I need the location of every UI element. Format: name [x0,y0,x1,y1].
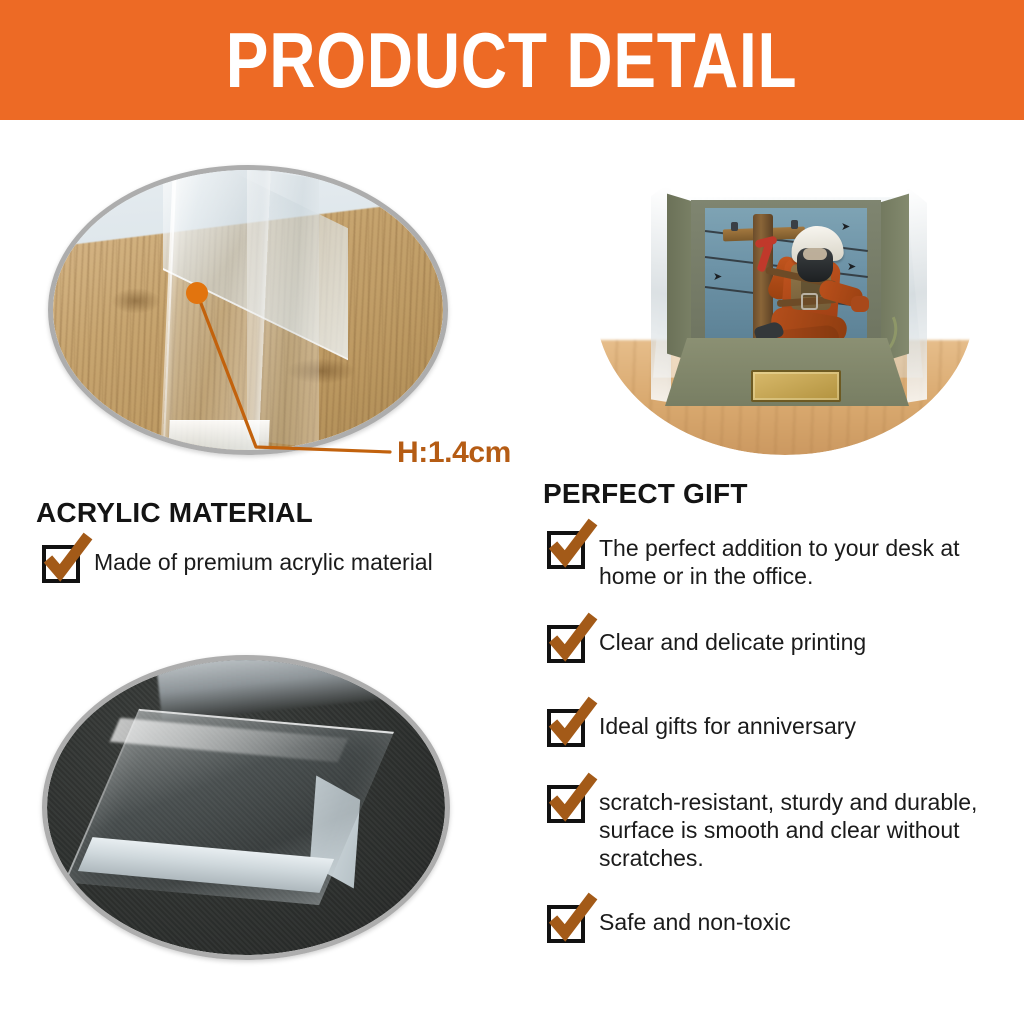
feature-text: The perfect addition to your desk at hom… [599,531,999,590]
checkbox-checked [547,531,585,569]
acrylic-edge-photo-inner [53,170,443,450]
acrylic-block-base-bevel [168,420,269,450]
feature-text: Ideal gifts for anniversary [599,709,856,740]
gold-nameplate [751,370,841,402]
feature-text: scratch-resistant, sturdy and durable, s… [599,785,999,872]
feature-item: scratch-resistant, sturdy and durable, s… [547,785,999,872]
checkbox-checked [42,545,80,583]
feature-item: Made of premium acrylic material [42,545,433,583]
checkmark-icon [546,518,598,570]
feature-item: Safe and non-toxic [547,905,791,943]
checkmark-icon [546,612,598,664]
bird-silhouette-icon: ➤ [713,272,722,283]
feature-text: Made of premium acrylic material [94,545,433,576]
dimension-label: H:1.4cm [397,436,511,470]
feature-item: Clear and delicate printing [547,625,866,663]
feature-text: Safe and non-toxic [599,905,791,936]
acrylic-slab-photo-inner [47,660,445,955]
wood-grain-knot [111,288,161,314]
slate-back-edge [155,660,445,722]
checkmark-icon [41,532,93,584]
dimension-callout-dot [186,282,208,304]
acrylic-edge-photo [48,165,448,455]
checkbox-checked [547,625,585,663]
insulator [731,222,738,231]
feature-item: Ideal gifts for anniversary [547,709,856,747]
wood-floor-scene [53,170,443,450]
acrylic-slab-photo [42,655,450,960]
checkmark-icon [546,892,598,944]
product-detail-page: PRODUCT DETAIL H:1.4cm [0,0,1024,1024]
page-title: PRODUCT DETAIL [226,20,798,100]
checkbox-checked [547,709,585,747]
checkbox-checked [547,785,585,823]
worker-face [803,248,827,260]
feature-item: The perfect addition to your desk at hom… [547,531,999,590]
page-header-banner: PRODUCT DETAIL [0,0,1024,120]
section-title-acrylic-material: ACRYLIC MATERIAL [36,497,313,529]
section-title-perfect-gift: PERFECT GIFT [543,478,748,510]
lineman-diorama-photo: ➤ ➤ ➤ [595,152,975,455]
lineman-diorama-photo-inner: ➤ ➤ ➤ [595,152,975,455]
bird-silhouette-icon: ➤ [847,262,856,273]
acrylic-shell-right-edge [907,184,927,402]
checkmark-icon [546,772,598,824]
harness-buckle [801,293,818,310]
bird-silhouette-icon: ➤ [841,222,850,233]
slate-surface [47,660,445,955]
checkmark-icon [546,696,598,748]
feature-text: Clear and delicate printing [599,625,866,656]
checkbox-checked [547,905,585,943]
acrylic-block-side-face [247,170,319,448]
insulator [791,220,798,229]
